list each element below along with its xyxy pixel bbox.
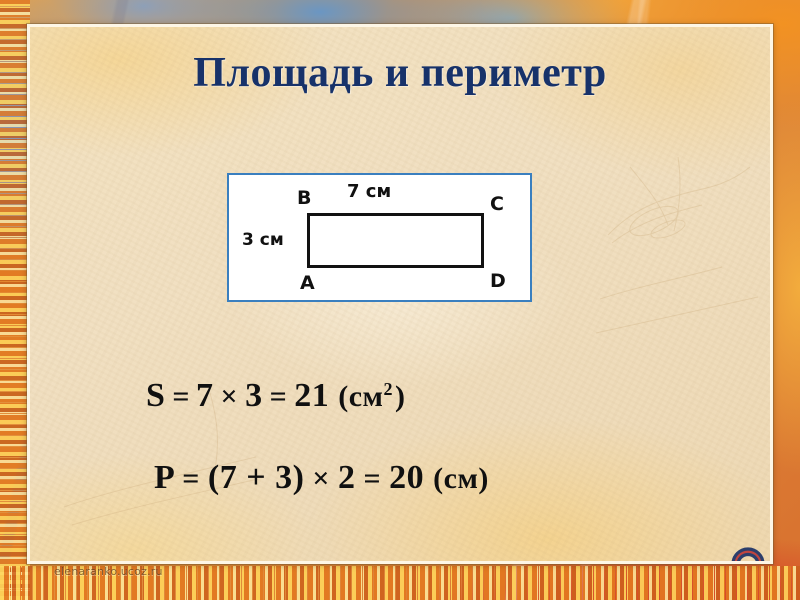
content-panel-frame: Площадь и периметр B C A D 7 см 3 см S=7… bbox=[27, 24, 773, 564]
area-formula-operand-b: 3 bbox=[245, 377, 263, 414]
perimeter-formula-equals-2: = bbox=[364, 462, 382, 495]
area-formula-equals-1: = bbox=[172, 380, 190, 413]
figure-diagram-box: B C A D 7 см 3 см bbox=[227, 173, 532, 302]
vertex-label-b: B bbox=[297, 189, 311, 208]
area-formula-exponent: 2 bbox=[384, 379, 394, 399]
area-formula-symbol: S bbox=[146, 377, 165, 414]
border-zigzag-left bbox=[0, 0, 30, 600]
vertex-label-a: A bbox=[300, 274, 315, 293]
perimeter-formula-result: 20 bbox=[389, 459, 424, 496]
area-formula-operand-a: 7 bbox=[196, 377, 214, 414]
perimeter-formula-symbol: P bbox=[154, 459, 175, 496]
u-turn-return-arrow-icon[interactable] bbox=[724, 543, 773, 564]
area-formula-times: × bbox=[221, 380, 239, 413]
figure-inner-area: B C A D 7 см 3 см bbox=[229, 175, 530, 300]
perimeter-formula-unit: (см) bbox=[433, 462, 489, 495]
area-formula-equals-2: = bbox=[270, 380, 288, 413]
dimension-label-width: 7 см bbox=[347, 183, 391, 201]
slide-canvas: Площадь и периметр B C A D 7 см 3 см S=7… bbox=[0, 0, 800, 600]
rectangle-shape bbox=[307, 213, 484, 268]
perimeter-formula: P=(7 + 3)×2=20(см) bbox=[154, 459, 489, 497]
area-formula-unit-close: ) bbox=[395, 380, 406, 413]
perimeter-formula-expression: (7 + 3) bbox=[208, 459, 305, 496]
perimeter-formula-times: × bbox=[312, 462, 330, 495]
vertex-label-c: C bbox=[490, 195, 504, 214]
area-formula: S=7×3=21(см2) bbox=[146, 377, 406, 415]
site-watermark: elenaranko.ucoz.ru bbox=[54, 565, 163, 578]
area-formula-result: 21 bbox=[294, 377, 329, 414]
dimension-label-height: 3 см bbox=[242, 232, 284, 249]
page-title: Площадь и периметр bbox=[30, 49, 770, 97]
return-button[interactable] bbox=[724, 543, 773, 564]
perimeter-formula-equals-1: = bbox=[182, 462, 200, 495]
area-formula-unit-open: (см bbox=[338, 380, 383, 413]
vertex-label-d: D bbox=[490, 272, 506, 291]
perimeter-formula-multiplier: 2 bbox=[338, 459, 356, 496]
